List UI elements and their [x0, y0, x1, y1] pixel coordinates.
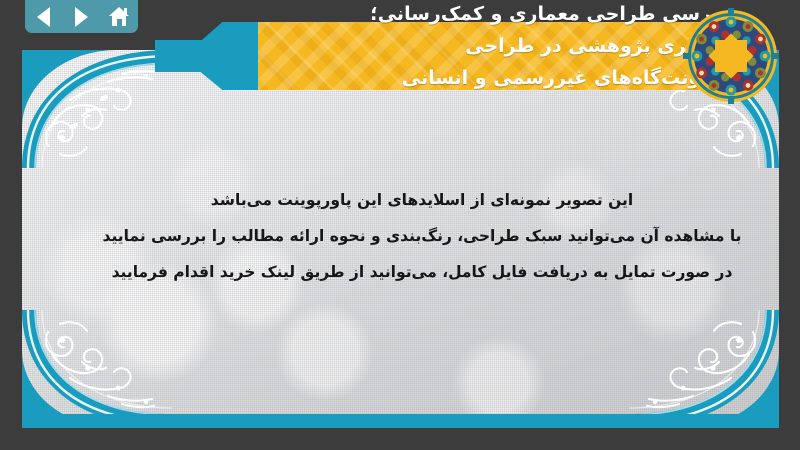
body-line-3: در صورت تمایل به دریافت فایل کامل، می‌تو… — [62, 254, 779, 290]
slide-stage: این تصویر نمونه‌ای از اسلایدهای این پاور… — [0, 0, 800, 450]
body-line-2: با مشاهده آن می‌توانید سبک طراحی، رنگ‌بن… — [62, 218, 779, 254]
chevron-left-icon — [37, 7, 50, 27]
left-frame-edge — [0, 0, 22, 450]
slide-body-text: این تصویر نمونه‌ای از اسلایدهای این پاور… — [62, 182, 779, 290]
title-band — [258, 22, 738, 90]
previous-slide-button[interactable] — [31, 5, 57, 29]
body-line-1: این تصویر نمونه‌ای از اسلایدهای این پاور… — [62, 182, 779, 218]
persian-rosette-medallion-icon — [683, 8, 779, 104]
footer-frame-edge — [0, 428, 800, 450]
footer-accent-bar — [22, 414, 779, 428]
slide-card: این تصویر نمونه‌ای از اسلایدهای این پاور… — [22, 50, 779, 428]
slide-navigation-bar — [25, 0, 138, 33]
home-icon — [109, 7, 129, 26]
chevron-right-icon — [75, 7, 88, 27]
right-frame-edge — [779, 0, 800, 450]
title-tab-connector — [155, 40, 203, 72]
home-button[interactable] — [106, 5, 132, 29]
next-slide-button[interactable] — [68, 5, 94, 29]
